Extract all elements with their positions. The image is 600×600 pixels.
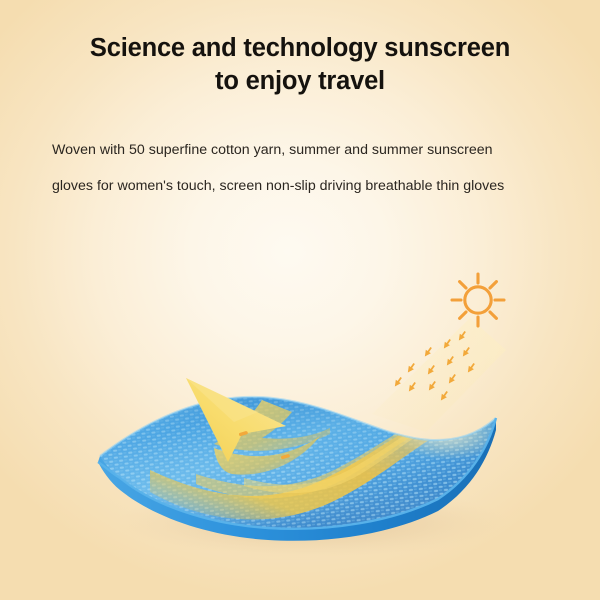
sun-disc bbox=[465, 287, 491, 313]
sun-rays bbox=[452, 274, 504, 326]
description-line-2: gloves for women's touch, screen non-sli… bbox=[52, 169, 548, 205]
poster-canvas: Science and technology sunscreen to enjo… bbox=[0, 0, 600, 600]
headline-line-1: Science and technology sunscreen bbox=[40, 32, 560, 65]
description-line-1: Woven with 50 superfine cotton yarn, sum… bbox=[52, 133, 548, 169]
text-block: Science and technology sunscreen to enjo… bbox=[0, 0, 600, 204]
headline-line-2: to enjoy travel bbox=[40, 65, 560, 98]
page-title: Science and technology sunscreen to enjo… bbox=[0, 0, 600, 97]
incoming-light-cone bbox=[372, 318, 506, 432]
product-description: Woven with 50 superfine cotton yarn, sum… bbox=[0, 97, 600, 204]
sun-icon bbox=[452, 274, 504, 326]
